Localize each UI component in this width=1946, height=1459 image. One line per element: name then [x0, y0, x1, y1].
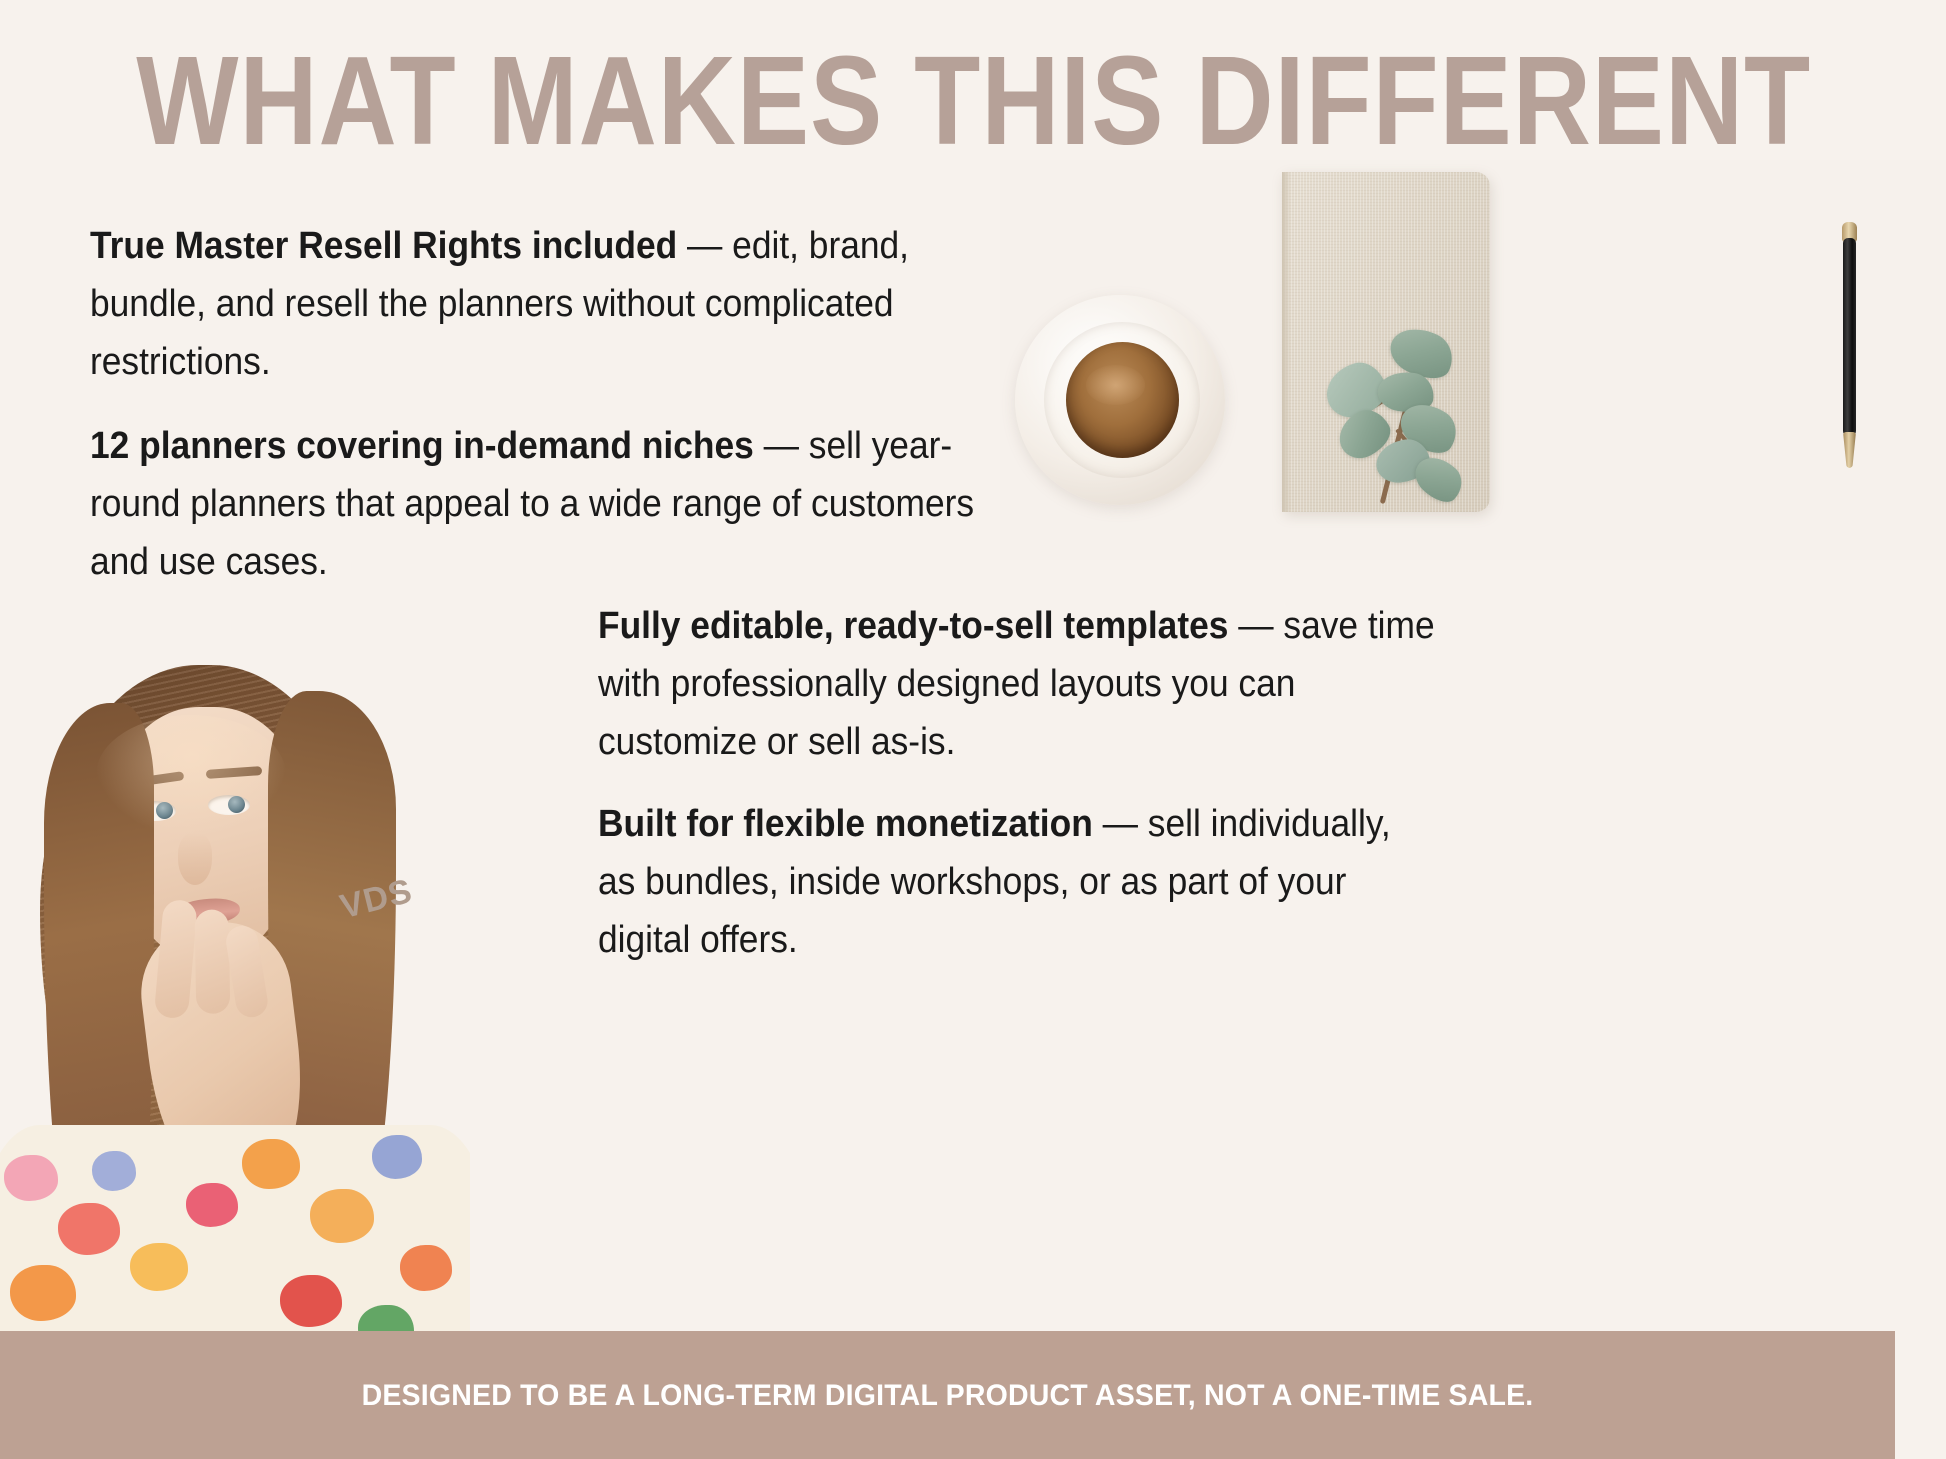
footer-text: DESIGNED TO BE A LONG-TERM DIGITAL PRODU…	[47, 1379, 1847, 1413]
eucalyptus-sprig	[1282, 328, 1502, 518]
benefit-lead-3: Fully editable, ready-to-sell templates	[598, 605, 1228, 647]
benefit-paragraph-4: Built for flexible monetization — sell i…	[598, 796, 1435, 969]
pen-shape	[1836, 220, 1862, 470]
coffee-notebook-pen-flatlay-image	[1000, 160, 1946, 560]
benefit-paragraph-3: Fully editable, ready-to-sell templates …	[598, 598, 1435, 771]
benefit-separator-3: —	[1228, 605, 1283, 647]
benefit-lead-2: 12 planners covering in-demand niches	[90, 425, 754, 467]
benefit-paragraph-2: 12 planners covering in-demand niches — …	[90, 418, 1011, 591]
benefit-separator-1: —	[677, 225, 732, 267]
benefit-separator-4: —	[1093, 803, 1148, 845]
benefit-lead-1: True Master Resell Rights included	[90, 225, 677, 267]
slide-canvas: WHAT MAKES THIS DIFFERENT True Master Re…	[0, 0, 1946, 1459]
coffee-liquid-shape	[1066, 342, 1179, 458]
page-title: WHAT MAKES THIS DIFFERENT	[136, 38, 1810, 164]
footer-banner: DESIGNED TO BE A LONG-TERM DIGITAL PRODU…	[0, 1331, 1895, 1459]
benefit-lead-4: Built for flexible monetization	[598, 803, 1093, 845]
benefit-separator-2: —	[754, 425, 809, 467]
benefit-paragraph-1: True Master Resell Rights included — edi…	[90, 218, 1011, 391]
